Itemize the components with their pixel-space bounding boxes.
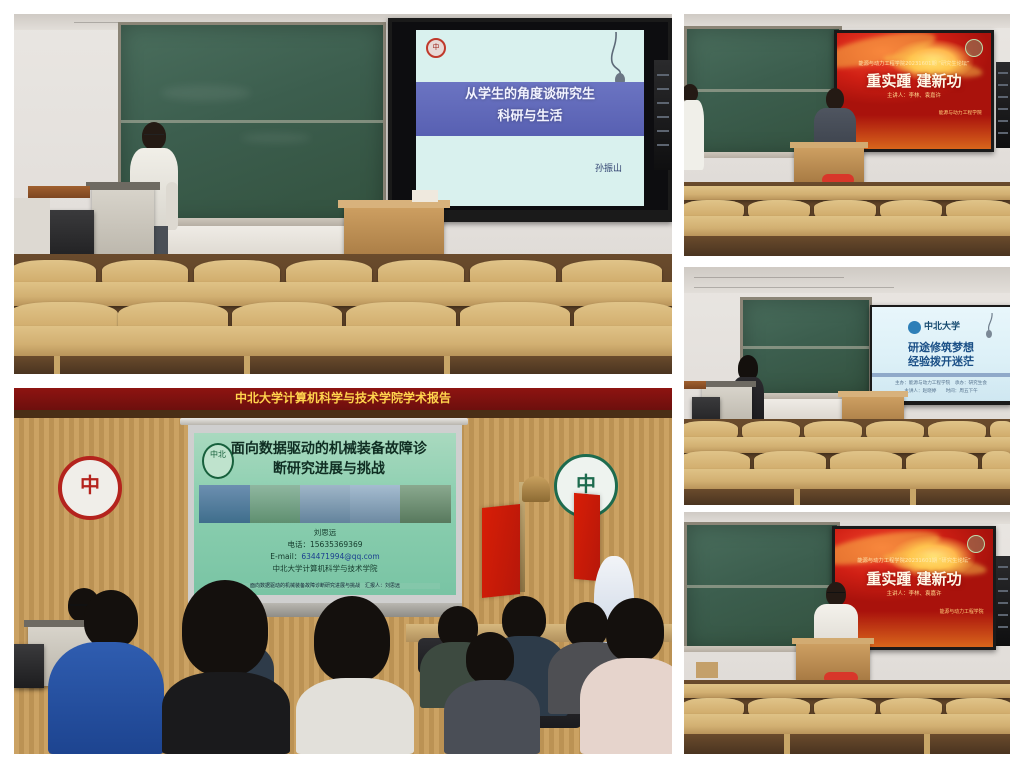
slide-meta-line1: 主办：能源与动力工程学院 承办：研究生会 bbox=[872, 381, 1010, 387]
slide-middle-right: 中北大学 研途修筑梦想 经验拨开迷茫 主办：能源与动力工程学院 承办：研究生会 … bbox=[872, 307, 1010, 401]
school-emblem-icon bbox=[965, 39, 983, 57]
speaker-arm bbox=[166, 182, 178, 230]
slide-title-line2: 经验拨开迷茫 bbox=[872, 355, 1010, 369]
speaker-head bbox=[826, 88, 844, 110]
audience-area bbox=[14, 588, 672, 754]
podium-top bbox=[792, 638, 874, 644]
microphone-cable-icon bbox=[974, 313, 1000, 339]
audience-body bbox=[580, 658, 672, 754]
projection-screen-tr: 能源与动力工程学院20231601期 “研究生论坛” 重实踵 建新功 主讲人：李… bbox=[837, 33, 991, 149]
slide-subtitle: 能源与动力工程学院20231601期 “研究生论坛” bbox=[837, 61, 991, 67]
audience-head bbox=[84, 590, 138, 648]
side-table bbox=[28, 186, 90, 198]
projection-screen: 中 从学生的角度谈研究生 科研与生活 孙振山 bbox=[392, 22, 668, 210]
slide-main-title: 重实踵 建新功 bbox=[837, 72, 991, 90]
ceiling bbox=[684, 267, 1010, 293]
slide-host: 主讲人：李林、袁嘉许 bbox=[837, 93, 991, 100]
slide-email: E-mail：634471994@qq.com bbox=[194, 551, 456, 563]
ceiling-line bbox=[694, 277, 844, 278]
slide-presenter: 刘思远 bbox=[194, 527, 456, 539]
seating-area bbox=[14, 254, 672, 374]
university-logo-icon: 中 bbox=[426, 38, 446, 58]
slide-title-line1: 面向数据驱动的机械装备故障诊 bbox=[210, 441, 448, 459]
audience-head bbox=[314, 596, 390, 682]
teacher-desk-top bbox=[838, 391, 908, 397]
ceiling-line bbox=[694, 287, 894, 288]
podium-top bbox=[790, 142, 868, 148]
university-logo-icon bbox=[908, 321, 921, 334]
photo-bottom-left[interactable]: 中北大学计算机科学与技术学院学术报告 中 中 中北 面向数据驱动的机械装备故障诊… bbox=[14, 388, 672, 754]
slide-divider bbox=[872, 373, 1010, 377]
wall-control-panel bbox=[996, 556, 1010, 646]
audience-body bbox=[48, 642, 164, 754]
audience-head bbox=[606, 598, 664, 662]
photo-top-left[interactable]: 中 从学生的角度谈研究生 科研与生活 孙振山 bbox=[14, 14, 672, 374]
seating-area bbox=[684, 419, 1010, 505]
secondary-flag bbox=[574, 493, 600, 581]
email-value: 634471994@qq.com bbox=[301, 552, 379, 561]
photo-middle-right[interactable]: 中北大学 研途修筑梦想 经验拨开迷茫 主办：能源与动力工程学院 承办：研究生会 … bbox=[684, 267, 1010, 505]
speaker-glasses-icon bbox=[144, 134, 164, 138]
phone-value: 15635369369 bbox=[310, 540, 363, 549]
school-emblem-icon bbox=[967, 535, 985, 553]
teacher-desk bbox=[344, 204, 444, 260]
email-label: E-mail： bbox=[270, 552, 301, 561]
cabinet bbox=[14, 198, 50, 254]
slide-affiliation: 中北大学计算机科学与技术学院 bbox=[194, 563, 456, 575]
slide-top-right: 能源与动力工程学院20231601期 “研究生论坛” 重实踵 建新功 主讲人：李… bbox=[837, 33, 991, 149]
projection-screen-bl: 中北 面向数据驱动的机械装备故障诊 断研究进展与挑战 刘思远 电话：156353… bbox=[188, 425, 462, 603]
photo-top-right[interactable]: 能源与动力工程学院20231601期 “研究生论坛” 重实踵 建新功 主讲人：李… bbox=[684, 14, 1010, 256]
slide-subtitle: 能源与动力工程学院20231601期 “研究生论坛” bbox=[835, 558, 993, 564]
microphone-cable-icon bbox=[586, 32, 630, 88]
slide-title-line1: 从学生的角度谈研究生 bbox=[416, 87, 644, 103]
slide-phone: 电话：15635369369 bbox=[194, 539, 456, 551]
emblem-left: 中 bbox=[58, 456, 122, 520]
phone-label: 电话： bbox=[288, 540, 311, 549]
audience-head bbox=[182, 580, 268, 676]
side-table bbox=[684, 381, 706, 389]
slide-org: 能源与动力工程学院 bbox=[939, 111, 982, 117]
campus-photo-strip bbox=[199, 485, 451, 523]
audience-head bbox=[466, 632, 514, 684]
seating-area bbox=[684, 182, 1010, 256]
stage-banner-text: 中北大学计算机科学与技术学院学术报告 bbox=[14, 391, 672, 406]
audience-body bbox=[444, 680, 540, 754]
speaker-glasses-icon bbox=[827, 592, 845, 596]
lectern bbox=[92, 186, 154, 264]
attendee-torso bbox=[684, 100, 704, 170]
lectern-top bbox=[86, 182, 160, 190]
lectern-mr-top bbox=[698, 381, 756, 387]
wall-control-panel bbox=[654, 60, 672, 170]
banner-shadow bbox=[14, 410, 672, 418]
slide-title-line2: 科研与生活 bbox=[416, 109, 644, 125]
seating-area bbox=[684, 680, 1010, 754]
desk-items bbox=[412, 190, 438, 202]
slide-top-left: 中 从学生的角度谈研究生 科研与生活 孙振山 bbox=[416, 30, 644, 206]
attendee-person bbox=[684, 84, 704, 170]
incense-burner bbox=[522, 476, 550, 502]
small-stool bbox=[696, 662, 718, 678]
audience-body bbox=[162, 672, 290, 754]
chinese-national-flag bbox=[482, 504, 520, 598]
slide-bottom-left: 中北 面向数据驱动的机械装备故障诊 断研究进展与挑战 刘思远 电话：156353… bbox=[194, 433, 456, 595]
slide-title-line2: 断研究进展与挑战 bbox=[210, 461, 448, 479]
photo-collage: 中 从学生的角度谈研究生 科研与生活 孙振山 bbox=[0, 0, 1024, 768]
university-logo-text: 中北大学 bbox=[924, 322, 960, 333]
slide-org: 能源与动力工程学院 bbox=[940, 609, 984, 615]
projection-screen-mr: 中北大学 研途修筑梦想 经验拨开迷茫 主办：能源与动力工程学院 承办：研究生会 … bbox=[872, 307, 1010, 401]
slide-title-line1: 研途修筑梦想 bbox=[872, 341, 1010, 355]
screen-roller-bar bbox=[180, 418, 468, 425]
slide-author: 孙振山 bbox=[595, 164, 622, 175]
audience-body bbox=[296, 678, 414, 754]
photo-bottom-right[interactable]: 能源与动力工程学院20231601期 “研究生论坛” 重实踵 建新功 主讲人：李… bbox=[684, 512, 1010, 754]
wall-control-panel bbox=[996, 62, 1010, 148]
